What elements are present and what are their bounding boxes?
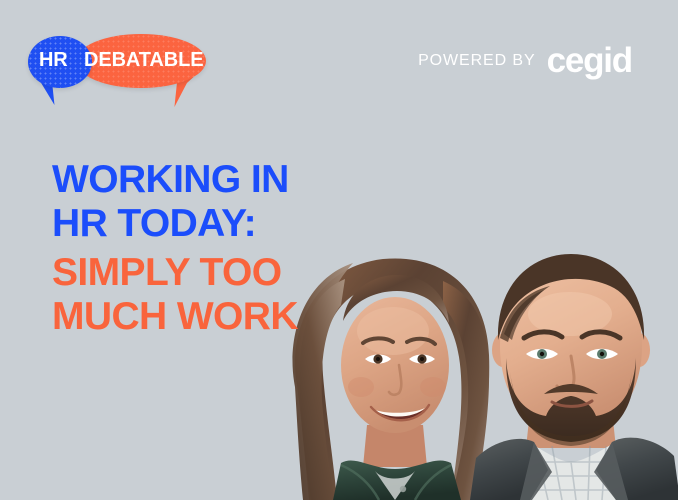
logo-text-debatable: DEBATABLE [84, 50, 203, 70]
headline-line-3: SIMPLY TOO [52, 251, 352, 295]
headline-line-2: HR TODAY: [52, 202, 352, 246]
promo-banner: HR DEBATABLE POWERED BY cegid WORKING IN… [0, 0, 678, 500]
hr-debatable-logo[interactable]: HR DEBATABLE [28, 33, 203, 101]
photo-man [470, 242, 678, 500]
banner-header: HR DEBATABLE POWERED BY cegid [0, 0, 678, 130]
logo-text-hr: HR [39, 50, 68, 70]
powered-by-cegid: POWERED BY cegid [418, 44, 632, 78]
headline-line-1: WORKING IN [52, 158, 352, 202]
cegid-wordmark: cegid [547, 43, 632, 78]
headline-line-4: MUCH WORK [52, 295, 352, 339]
headline: WORKING IN HR TODAY: SIMPLY TOO MUCH WOR… [52, 158, 352, 339]
powered-by-label: POWERED BY [418, 53, 535, 69]
